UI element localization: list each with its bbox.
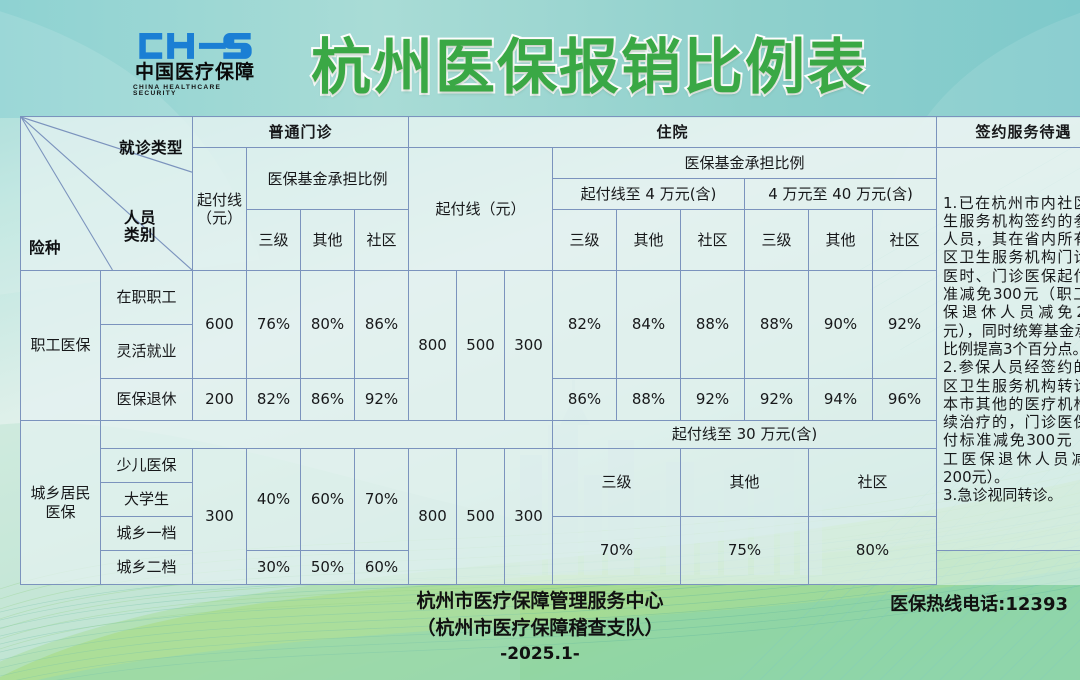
value-band1-retired-other: 88% [617,379,681,421]
value-resident-op-tier1-other: 60% [301,449,355,551]
value-resident-op-tier2-other: 50% [301,551,355,585]
value-band1-active-other: 84% [617,271,681,379]
reimbursement-table: 就诊类型 人员 类别 险种 普通门诊 住院 签约服务待遇 起付线 （元） 医保基… [20,116,1080,585]
value-band2-active-other: 90% [809,271,873,379]
level-op-community: 社区 [355,210,409,271]
level-band1-tertiary: 三级 [745,210,809,271]
chs-logo: 中国医疗保障 CHINA HEALTHCARE SECURITY [133,30,257,98]
table-header-row-groups: 就诊类型 人员 类别 险种 普通门诊 住院 签约服务待遇 [21,117,1080,148]
footer-center-block: 杭州市医疗保障管理服务中心 （杭州市医疗保障稽查支队） -2025.1- [300,588,780,667]
value-band2-active-community: 92% [873,271,937,379]
corner-label-person-category: 人员 类别 [124,210,156,244]
group-header-signed-service: 签约服务待遇 [937,117,1080,148]
logo-chinese-text: 中国医疗保障 [135,63,255,82]
value-resident-op-tier1-community: 70% [355,449,409,551]
subheader-band-2: 4 万元至 40 万元(含) [745,179,937,210]
value-band1-active-tertiary: 82% [553,271,617,379]
subheader-outpatient-fund-ratio: 医保基金承担比例 [247,148,409,210]
value-op-threshold-active: 600 [193,271,247,379]
value-resident-ip-threshold-other: 500 [457,449,505,585]
level-ipth-community: 社区 [681,210,745,271]
resident-level-community: 社区 [809,449,937,517]
value-resident-ip-ratio-tertiary: 70% [553,517,681,585]
value-resident-op-tier2-tertiary: 30% [247,551,301,585]
chs-logo-mark [136,30,254,62]
category-flexible-employment: 灵活就业 [101,325,193,379]
footer-date: -2025.1- [300,642,780,668]
level-band1-other: 其他 [809,210,873,271]
value-band2-active-tertiary: 88% [745,271,809,379]
value-resident-op-tier1-tertiary: 40% [247,449,301,551]
resident-level-tertiary: 三级 [553,449,681,517]
subheader-band-resident: 起付线至 30 万元(含) [553,421,937,449]
corner-label-visit-type: 就诊类型 [119,139,183,158]
category-urban-rural-tier1: 城乡一档 [101,517,193,551]
value-op-ratio-active-other: 80% [301,271,355,379]
value-resident-ip-ratio-other: 75% [681,517,809,585]
level-ipth-other: 其他 [617,210,681,271]
category-children-insurance: 少儿医保 [101,449,193,483]
corner-person-line1: 人员 [124,209,156,227]
value-resident-ip-ratio-community: 80% [809,517,937,585]
group-header-inpatient: 住院 [409,117,937,148]
value-op-ratio-retired-community: 92% [355,379,409,421]
subheader-inpatient-fund-ratio: 医保基金承担比例 [553,148,937,179]
resident-level-other: 其他 [681,449,809,517]
subheader-band-1: 起付线至 4 万元(含) [553,179,745,210]
note-3: 3.急诊视同转诊。 [943,486,1080,504]
op-threshold-line1: 起付线 [197,191,242,209]
table-row-employee-active: 职工医保 在职职工 600 76% 80% 86% 800 500 300 82… [21,271,1080,325]
table-row-resident-band-header: 城乡居民 医保 起付线至 30 万元(含) [21,421,1080,449]
value-resident-ip-threshold-tertiary: 800 [409,449,457,585]
corner-person-line2: 类别 [124,226,156,244]
value-op-ratio-retired-other: 86% [301,379,355,421]
value-op-threshold-retired: 200 [193,379,247,421]
note-1: 1.已在杭州市内社区卫生服务机构签约的参保人员，其在省内所有社区卫生服务机构门诊… [943,194,1080,359]
op-threshold-line2: （元） [197,209,242,227]
value-ip-threshold-emp-tertiary: 800 [409,271,457,421]
note-2: 2.参保人员经签约的社区卫生服务机构转诊至本市其他的医疗机构继续治疗的，门诊医保… [943,358,1080,486]
page-title: 杭州医保报销比例表 [270,24,910,100]
category-active-employee: 在职职工 [101,271,193,325]
value-band2-retired-other: 94% [809,379,873,421]
category-urban-rural-tier2: 城乡二档 [101,551,193,585]
value-ip-threshold-emp-community: 300 [505,271,553,421]
category-college-student: 大学生 [101,483,193,517]
corner-header-cell: 就诊类型 人员 类别 险种 [21,117,193,271]
signed-service-notes: 1.已在杭州市内社区卫生服务机构签约的参保人员，其在省内所有社区卫生服务机构门诊… [937,148,1080,551]
footer-org-subname: （杭州市医疗保障稽查支队） [300,615,780,642]
subheader-inpatient-threshold: 起付线（元） [409,148,553,271]
group-header-outpatient: 普通门诊 [193,117,409,148]
corner-label-insurance-type: 险种 [29,239,61,258]
value-band1-active-community: 88% [681,271,745,379]
page-footer: 杭州市医疗保障管理服务中心 （杭州市医疗保障稽查支队） -2025.1- 医保热… [0,588,1080,680]
table-row-resident-children: 少儿医保 300 40% 60% 70% 800 500 300 三级 其他 社… [21,449,1080,483]
value-op-ratio-active-tertiary: 76% [247,271,301,379]
footer-hotline: 医保热线电话:12393 [890,590,1068,616]
value-band1-retired-community: 92% [681,379,745,421]
level-op-other: 其他 [301,210,355,271]
level-band1-community: 社区 [873,210,937,271]
value-resident-op-threshold: 300 [193,449,247,585]
risk-label-employee: 职工医保 [21,271,101,421]
resident-label-line2: 医保 [45,503,75,521]
value-resident-ip-threshold-community: 300 [505,449,553,585]
footer-org-name: 杭州市医疗保障管理服务中心 [300,588,780,615]
page-header: 中国医疗保障 CHINA HEALTHCARE SECURITY 杭州医保报销比… [0,0,1080,112]
value-band1-retired-tertiary: 86% [553,379,617,421]
logo-english-text: CHINA HEALTHCARE SECURITY [133,85,257,98]
value-op-ratio-retired-tertiary: 82% [247,379,301,421]
subheader-outpatient-threshold: 起付线 （元） [193,148,247,271]
value-op-ratio-active-community: 86% [355,271,409,379]
level-ipth-tertiary: 三级 [553,210,617,271]
value-resident-op-tier2-community: 60% [355,551,409,585]
value-ip-threshold-emp-other: 500 [457,271,505,421]
level-op-tertiary: 三级 [247,210,301,271]
category-retired: 医保退休 [101,379,193,421]
risk-label-resident: 城乡居民 医保 [21,421,101,585]
value-band2-retired-community: 96% [873,379,937,421]
value-band2-retired-tertiary: 92% [745,379,809,421]
resident-label-line1: 城乡居民 [30,484,90,502]
resident-blank-spacer [101,421,553,449]
reimbursement-table-wrapper: 就诊类型 人员 类别 险种 普通门诊 住院 签约服务待遇 起付线 （元） 医保基… [20,116,1060,585]
